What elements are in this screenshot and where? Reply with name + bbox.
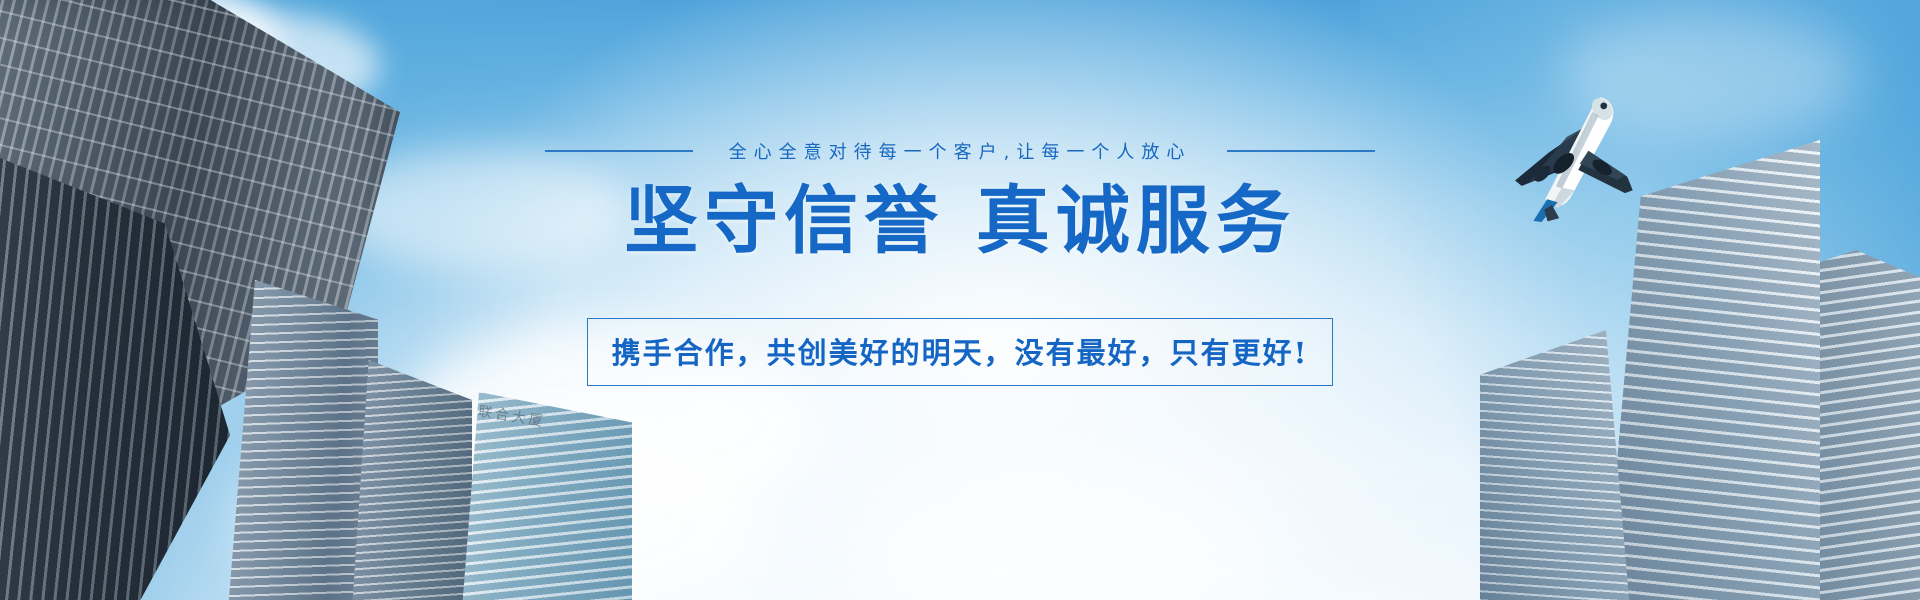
banner-headline: 坚守信誉 真诚服务 bbox=[0, 182, 1920, 262]
banner-copy: 全心全意对待每一个客户,让每一个人放心 坚守信誉 真诚服务 携手合作，共创美好的… bbox=[0, 0, 1920, 600]
banner-subtitle: 携手合作，共创美好的明天，没有最好，只有更好! bbox=[587, 318, 1334, 386]
rule-left-icon bbox=[545, 150, 693, 152]
banner-subtitle-wrap: 携手合作，共创美好的明天，没有最好，只有更好! bbox=[0, 318, 1920, 386]
hero-banner: 联合大厦 bbox=[0, 0, 1920, 600]
banner-tagline: 全心全意对待每一个客户,让每一个人放心 bbox=[729, 138, 1192, 164]
tagline-row: 全心全意对待每一个客户,让每一个人放心 bbox=[0, 138, 1920, 164]
rule-right-icon bbox=[1227, 150, 1375, 152]
